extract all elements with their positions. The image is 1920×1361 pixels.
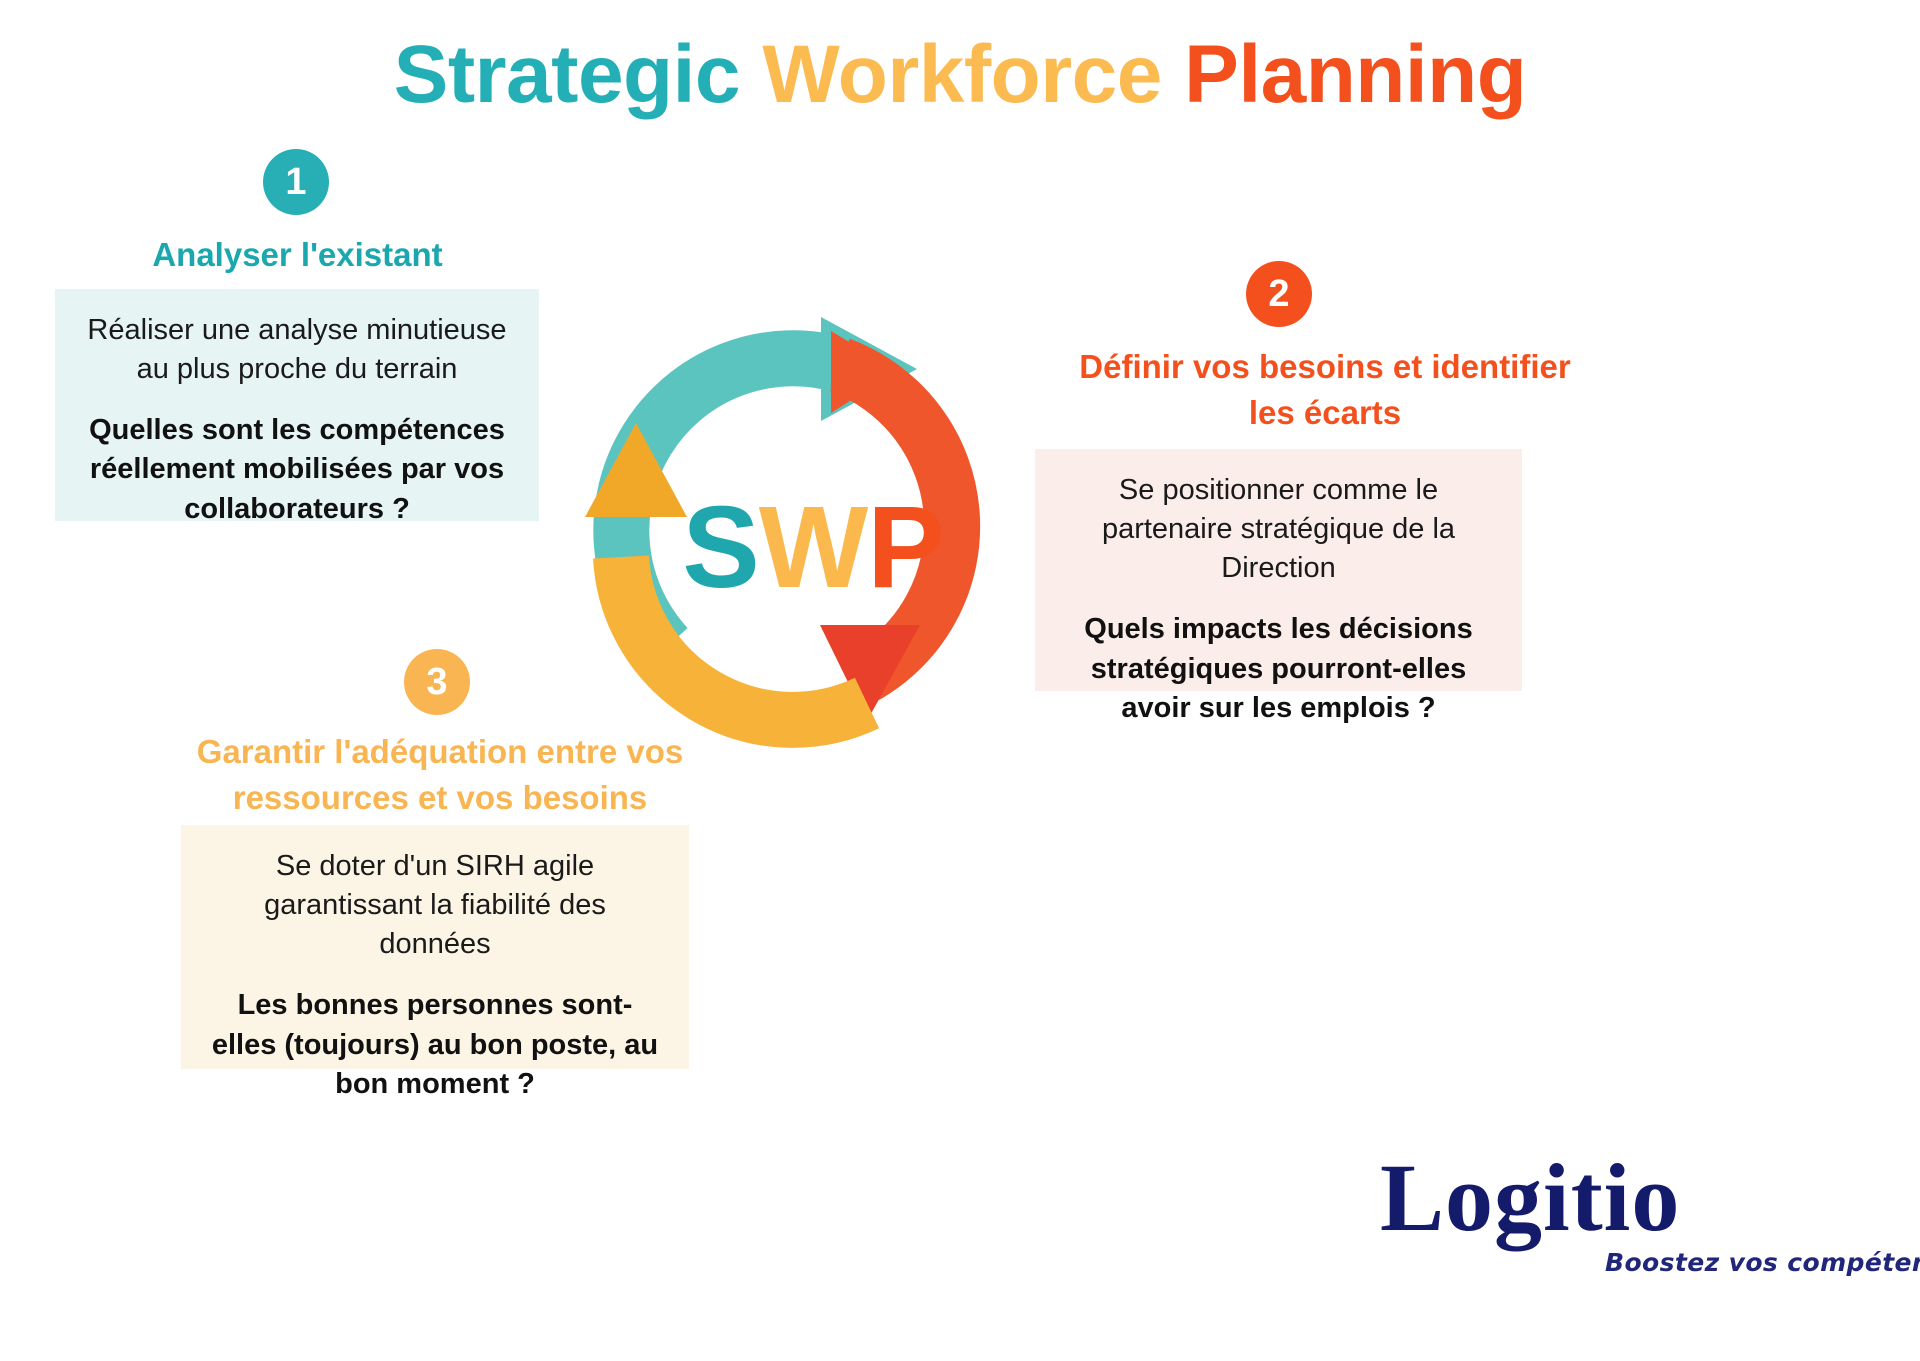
step-heading-3: Garantir l'adéquation entre vos ressourc…: [170, 729, 710, 820]
step-3-question-text: Les bonnes personnes sont-elles (toujour…: [207, 986, 663, 1103]
step-heading-2: Définir vos besoins et identifier les éc…: [1060, 344, 1590, 435]
title-part-workforce: Workforce: [762, 29, 1184, 120]
page-title: Strategic Workforce Planning: [0, 30, 1920, 120]
step-badge-2: 2: [1246, 261, 1312, 327]
step-badge-2-number: 2: [1268, 275, 1289, 313]
logo-tagline: Boostez vos compétences: [1605, 1248, 1920, 1277]
step-1-question-text: Quelles sont les compétences réellement …: [81, 411, 513, 528]
logo-wordmark: Logitio: [1380, 1150, 1680, 1246]
step-box-1: Réaliser une analyse minutieuse au plus …: [55, 289, 539, 521]
title-part-strategic: Strategic: [394, 29, 763, 120]
infographic-canvas: Strategic Workforce Planning: [0, 0, 1920, 1361]
step-2-lead-text: Se positionner comme le partenaire strat…: [1061, 471, 1496, 588]
step-box-3: Se doter d'un SIRH agile garantissant la…: [181, 825, 689, 1069]
cycle-arc-yellow: [585, 423, 867, 720]
title-part-planning: Planning: [1184, 29, 1526, 120]
swp-cycle-diagram: [545, 295, 1025, 775]
step-3-lead-text: Se doter d'un SIRH agile garantissant la…: [207, 847, 663, 964]
cycle-arc-orange: [820, 331, 952, 721]
step-1-lead-text: Réaliser une analyse minutieuse au plus …: [81, 311, 513, 389]
step-2-question-text: Quels impacts les décisions stratégiques…: [1061, 610, 1496, 727]
step-heading-1: Analyser l'existant: [55, 232, 540, 278]
step-badge-3-number: 3: [426, 663, 447, 701]
step-badge-1: 1: [263, 149, 329, 215]
step-box-2: Se positionner comme le partenaire strat…: [1035, 449, 1522, 691]
step-badge-3: 3: [404, 649, 470, 715]
step-badge-1-number: 1: [285, 163, 306, 201]
logitio-logo: Logitio Boostez vos compétences: [1380, 1150, 1880, 1290]
